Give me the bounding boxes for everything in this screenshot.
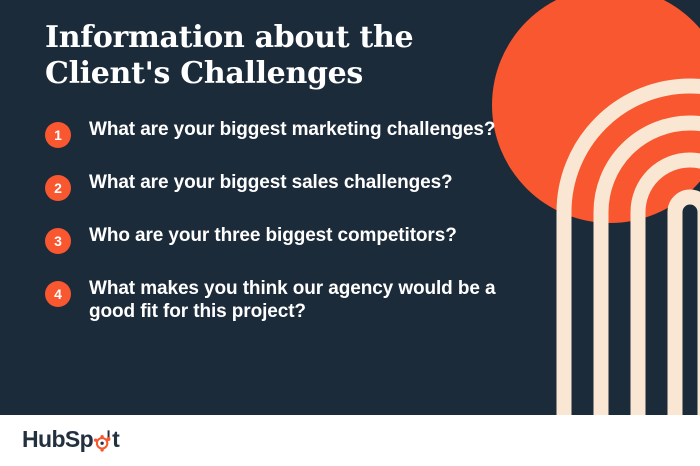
question-number-badge: 4 xyxy=(45,281,71,307)
list-item: 3 Who are your three biggest competitors… xyxy=(45,224,505,254)
hubspot-logo: HubSp t xyxy=(22,426,119,453)
arc-1 xyxy=(564,86,700,415)
hubspot-sprocket-icon xyxy=(93,429,112,452)
question-text: Who are your three biggest competitors? xyxy=(89,224,457,247)
arc-4 xyxy=(675,197,700,415)
arc-3 xyxy=(638,160,700,415)
question-number-badge: 2 xyxy=(45,175,71,201)
question-number-badge: 3 xyxy=(45,228,71,254)
logo-text-part-1: HubSp xyxy=(22,426,93,453)
page-title-line-2: Client's Challenges xyxy=(45,56,475,92)
question-list: 1 What are your biggest marketing challe… xyxy=(45,118,505,346)
question-text: What makes you think our agency would be… xyxy=(89,277,505,323)
question-text: What are your biggest sales challenges? xyxy=(89,171,453,194)
list-item: 4 What makes you think our agency would … xyxy=(45,277,505,323)
orange-circle-shape xyxy=(492,0,700,223)
page-title: Information about the Client's Challenge… xyxy=(45,20,475,92)
question-number-badge: 1 xyxy=(45,122,71,148)
arc-2 xyxy=(601,123,700,415)
slide-canvas: Information about the Client's Challenge… xyxy=(0,0,700,466)
list-item: 2 What are your biggest sales challenges… xyxy=(45,171,505,201)
page-title-line-1: Information about the xyxy=(45,20,475,56)
logo-text-part-2: t xyxy=(112,426,119,453)
footer-bar: HubSp t xyxy=(0,415,700,466)
concentric-arcs-shape xyxy=(564,86,700,415)
list-item: 1 What are your biggest marketing challe… xyxy=(45,118,505,148)
question-text: What are your biggest marketing challeng… xyxy=(89,118,495,141)
